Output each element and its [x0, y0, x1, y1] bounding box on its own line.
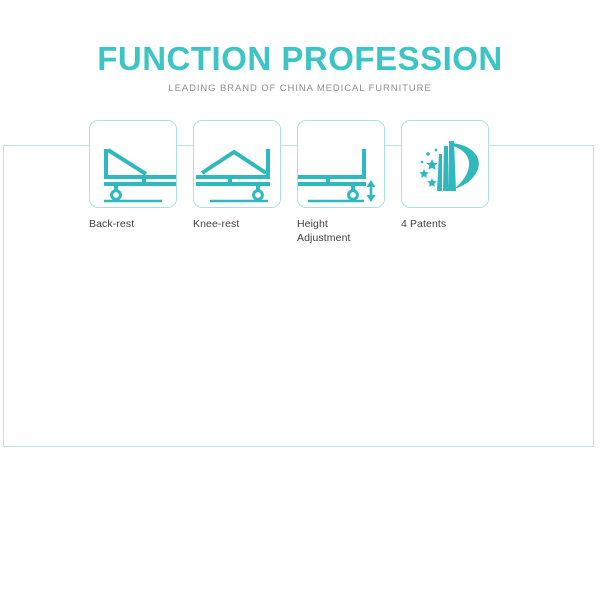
icon-box-height-adjustment: [297, 120, 385, 208]
feature-label-patents: 4 Patents: [401, 217, 489, 231]
patent-logo-icon: [402, 121, 489, 208]
feature-item-knee-rest[interactable]: Knee-rest: [193, 120, 281, 245]
feature-label-back-rest: Back-rest: [89, 217, 177, 231]
icon-box-patents: [401, 120, 489, 208]
wheel-icon: [112, 191, 121, 200]
feature-item-height-adjustment[interactable]: Height Adjustment: [297, 120, 385, 245]
bed-knee-rest-icon: [194, 121, 281, 208]
feature-item-back-rest[interactable]: Back-rest: [89, 120, 177, 245]
feature-label-knee-rest: Knee-rest: [193, 217, 281, 231]
feature-list: Back-rest: [89, 120, 509, 245]
page-subtitle: LEADING BRAND OF CHINA MEDICAL FURNITURE: [0, 84, 600, 94]
page-title: FUNCTION PROFESSION: [0, 42, 600, 75]
wheel-icon: [349, 191, 358, 200]
feature-label-height-adjustment: Height Adjustment: [297, 217, 385, 245]
icon-box-knee-rest: [193, 120, 281, 208]
wheel-icon: [254, 191, 263, 200]
bed-back-rest-icon: [90, 121, 177, 208]
feature-item-patents[interactable]: 4 Patents: [401, 120, 489, 245]
icon-box-back-rest: [89, 120, 177, 208]
bed-height-adjustment-icon: [298, 121, 385, 208]
up-down-arrow-icon: [366, 180, 375, 202]
stars-icon: [419, 149, 437, 187]
